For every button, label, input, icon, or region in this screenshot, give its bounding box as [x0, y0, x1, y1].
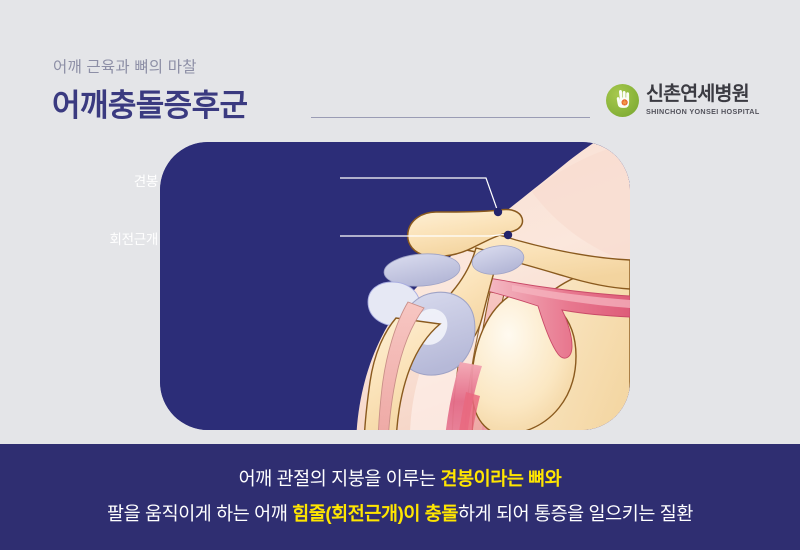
shoulder-anatomy-illustration [160, 142, 630, 430]
caption-line-2-part-1: 팔을 움직이게 하는 어깨 [107, 503, 292, 524]
caption-line-1-highlight: 견봉이라는 뼈와 [440, 468, 561, 489]
caption-line-1: 어깨 관절의 지붕을 이루는 견봉이라는 뼈와 [0, 465, 800, 491]
acromion-marker [494, 208, 502, 216]
diagram-label-rotator-cuff: 회전근개 [28, 228, 158, 248]
title-divider [311, 117, 590, 118]
infographic-page: 어깨 근육과 뼈의 마찰 어깨충돌증후군 신촌연세병원 SHINCHON YON… [0, 0, 800, 550]
diagram-panel: 견봉 회전근개 [160, 142, 630, 430]
hospital-logo: 신촌연세병원 SHINCHON YONSEI HOSPITAL [606, 82, 756, 124]
diagram-label-acromion: 견봉 [48, 170, 158, 190]
logo-name-ko: 신촌연세병원 [646, 82, 756, 106]
logo-text: 신촌연세병원 SHINCHON YONSEI HOSPITAL [646, 82, 756, 117]
rotator-cuff-marker [504, 231, 512, 239]
logo-name-en: SHINCHON YONSEI HOSPITAL [646, 107, 756, 117]
diagram-clip [160, 142, 630, 430]
caption-line-2: 팔을 움직이게 하는 어깨 힘줄(회전근개)이 충돌하게 되어 통증을 일으키는… [0, 500, 800, 526]
caption-banner: 어깨 관절의 지붕을 이루는 견봉이라는 뼈와 팔을 움직이게 하는 어깨 힘줄… [0, 444, 800, 550]
caption-line-2-highlight: 힘줄(회전근개)이 충돌 [292, 503, 458, 524]
caption-line-1-part-1: 어깨 관절의 지붕을 이루는 [239, 468, 441, 489]
page-title: 어깨충돌증후군 [52, 80, 247, 125]
header-eyebrow: 어깨 근육과 뼈의 마찰 [53, 55, 197, 77]
hand-leaf-circle-logo-icon [606, 84, 639, 117]
caption-line-2-part-3: 하게 되어 통증을 일으키는 질환 [458, 503, 693, 524]
header: 어깨 근육과 뼈의 마찰 어깨충돌증후군 신촌연세병원 SHINCHON YON… [0, 0, 800, 140]
